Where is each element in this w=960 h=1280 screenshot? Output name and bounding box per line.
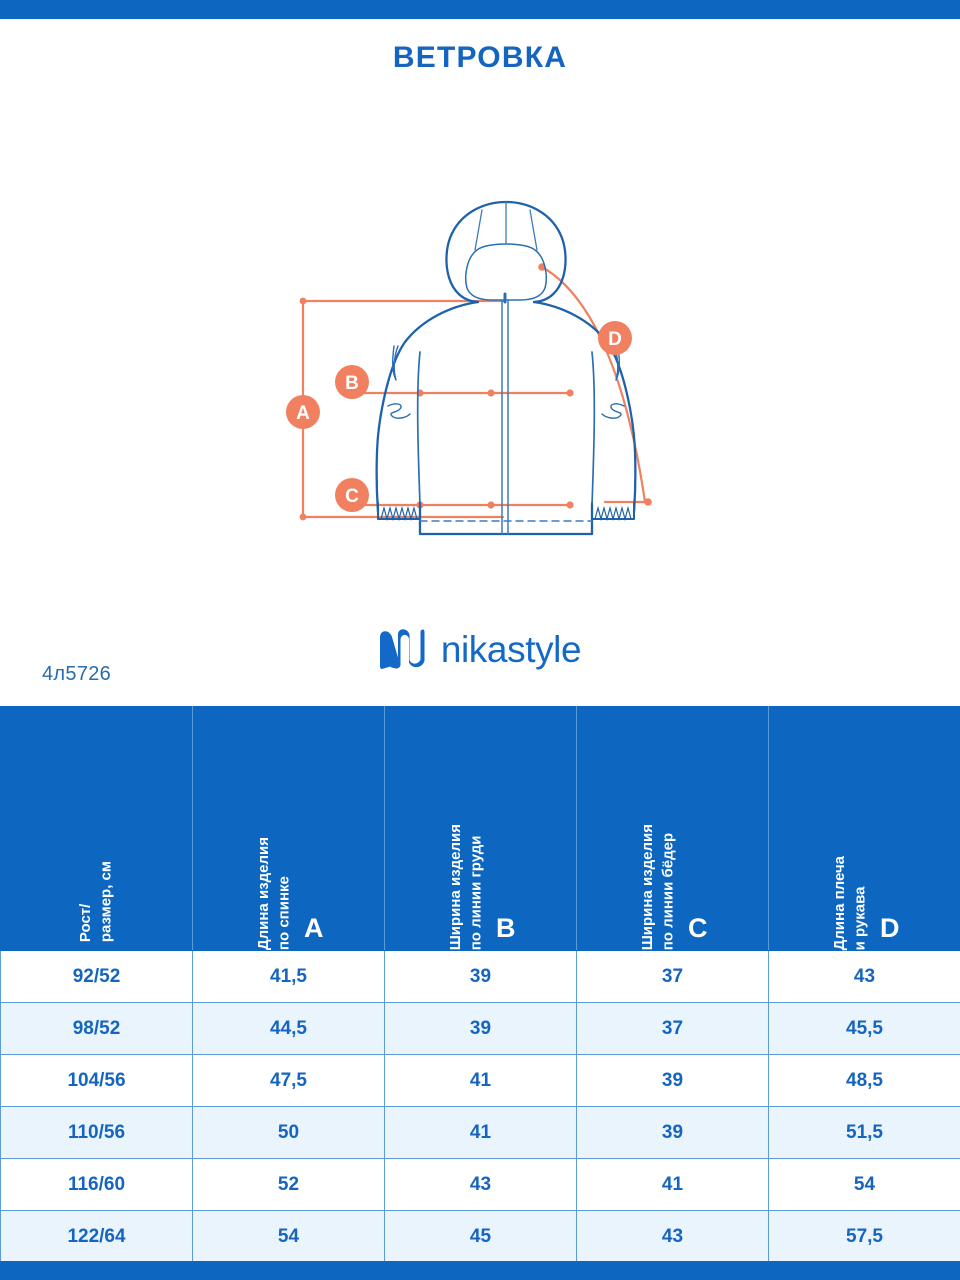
- cell-size: 116/60: [1, 1159, 193, 1211]
- column-header-label: Ширина изделия по линии бёдер: [638, 824, 679, 950]
- table-row: 98/52 44,5 39 37 45,5: [1, 1003, 960, 1055]
- nikastyle-mark-icon: [379, 628, 425, 670]
- column-header-letter: A: [304, 915, 324, 950]
- table-row: 110/56 50 41 39 51,5: [1, 1107, 960, 1159]
- cell-c: 39: [577, 1107, 769, 1159]
- cell-size: 104/56: [1, 1055, 193, 1107]
- svg-text:B: B: [345, 373, 359, 394]
- column-header-a: Длина изделия по спинке A: [193, 707, 385, 951]
- cell-size: 122/64: [1, 1211, 193, 1263]
- cell-d: 45,5: [769, 1003, 960, 1055]
- cell-c: 39: [577, 1055, 769, 1107]
- cell-d: 51,5: [769, 1107, 960, 1159]
- cell-b: 41: [385, 1107, 577, 1159]
- cell-d: 43: [769, 951, 960, 1003]
- column-header-letter: C: [688, 915, 708, 950]
- svg-text:C: C: [345, 486, 359, 507]
- jacket-outline: [377, 202, 636, 534]
- cell-size: 92/52: [1, 951, 193, 1003]
- article-code: 4л5726: [42, 663, 111, 686]
- cell-a: 44,5: [193, 1003, 385, 1055]
- cell-b: 45: [385, 1211, 577, 1263]
- cell-b: 41: [385, 1055, 577, 1107]
- cell-a: 52: [193, 1159, 385, 1211]
- table-row: 104/56 47,5 41 39 48,5: [1, 1055, 960, 1107]
- jacket-measurement-diagram: A B C D: [270, 190, 670, 550]
- column-header-b: Ширина изделия по линии груди B: [385, 707, 577, 951]
- svg-text:D: D: [608, 329, 622, 350]
- cell-c: 43: [577, 1211, 769, 1263]
- svg-text:A: A: [296, 403, 310, 424]
- brand-logo: nikastyle: [0, 628, 960, 670]
- table-row: 92/52 41,5 39 37 43: [1, 951, 960, 1003]
- column-header-label: Длина изделия по спинке: [254, 837, 295, 950]
- column-header-c: Ширина изделия по линии бёдер C: [577, 707, 769, 951]
- table-body: 92/52 41,5 39 37 43 98/52 44,5 39 37 45,…: [1, 951, 960, 1263]
- column-header-letter: B: [496, 915, 516, 950]
- cell-d: 54: [769, 1159, 960, 1211]
- marker-badge-c: C: [335, 478, 369, 512]
- bottom-accent-bar: [0, 1261, 960, 1280]
- cell-b: 39: [385, 1003, 577, 1055]
- cell-a: 50: [193, 1107, 385, 1159]
- cell-b: 43: [385, 1159, 577, 1211]
- table-row: 122/64 54 45 43 57,5: [1, 1211, 960, 1263]
- cell-a: 47,5: [193, 1055, 385, 1107]
- marker-badge-a: A: [286, 395, 320, 429]
- column-header-letter: D: [880, 915, 900, 950]
- cell-c: 41: [577, 1159, 769, 1211]
- cell-c: 37: [577, 951, 769, 1003]
- cell-size: 98/52: [1, 1003, 193, 1055]
- column-header-label: Рост/ размер, см: [76, 861, 117, 942]
- size-chart-table: Рост/ размер, см Длина изделия по спинке…: [0, 706, 960, 1263]
- cell-d: 48,5: [769, 1055, 960, 1107]
- cell-d: 57,5: [769, 1211, 960, 1263]
- brand-name: nikastyle: [441, 631, 581, 668]
- column-header-label: Длина плеча и рукава: [830, 856, 871, 950]
- marker-badge-d: D: [598, 321, 632, 355]
- table-header-row: Рост/ размер, см Длина изделия по спинке…: [1, 707, 960, 951]
- column-header-d: Длина плеча и рукава D: [769, 707, 960, 951]
- cell-b: 39: [385, 951, 577, 1003]
- cell-a: 41,5: [193, 951, 385, 1003]
- top-accent-bar: [0, 0, 960, 19]
- marker-badge-b: B: [335, 365, 369, 399]
- cell-a: 54: [193, 1211, 385, 1263]
- table-row: 116/60 52 43 41 54: [1, 1159, 960, 1211]
- column-header-label: Ширина изделия по линии груди: [446, 824, 487, 950]
- cell-c: 37: [577, 1003, 769, 1055]
- cell-size: 110/56: [1, 1107, 193, 1159]
- column-header-size: Рост/ размер, см: [1, 707, 193, 951]
- page-title: ВЕТРОВКА: [0, 41, 960, 75]
